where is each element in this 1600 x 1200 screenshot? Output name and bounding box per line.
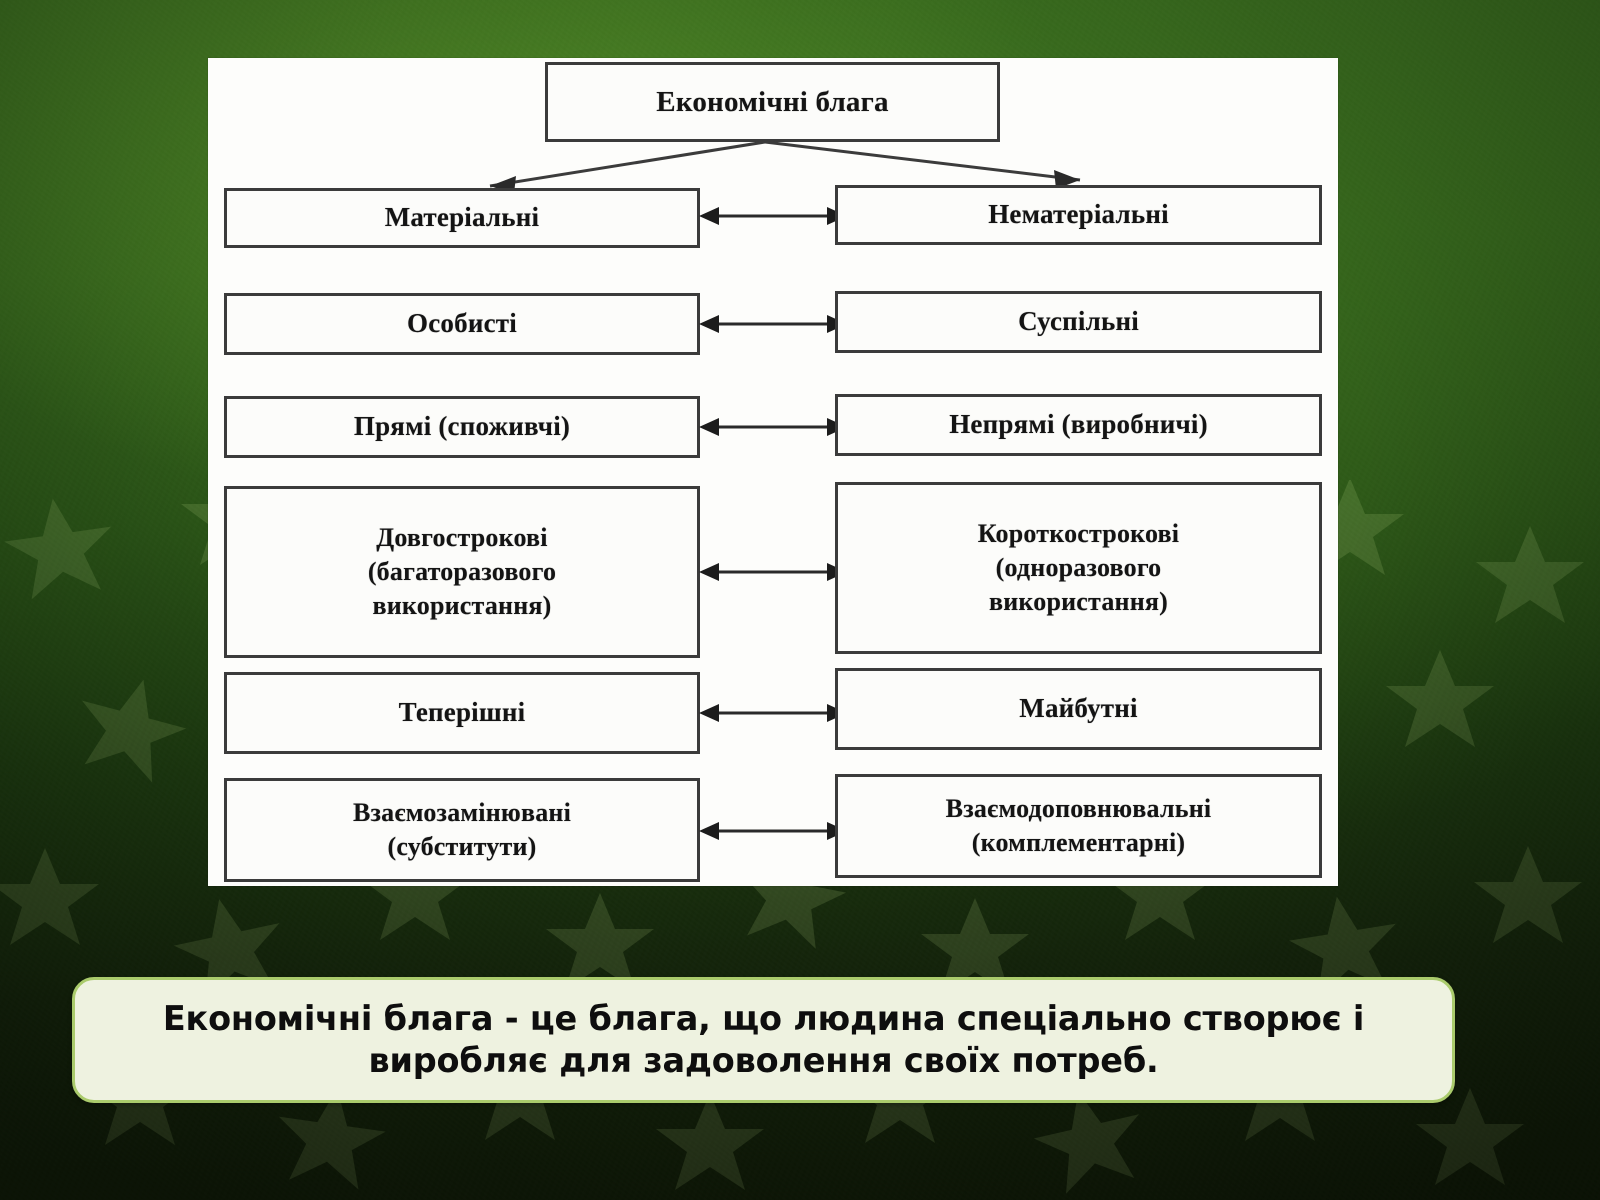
diagram-node-left-3: Прямі (споживчі) — [224, 396, 700, 458]
diagram-node-right-6-line-1: Взаємодоповнювальні — [940, 792, 1218, 826]
diagram-node-right-1: Нематеріальні — [835, 185, 1322, 245]
diagram-node-right-1-label: Нематеріальні — [982, 199, 1175, 231]
caption-banner: Економічні блага - це блага, що людина с… — [72, 977, 1455, 1103]
diagram-connector-1 — [699, 203, 847, 229]
diagram-node-left-6-line-2: (субститути) — [381, 830, 542, 864]
diagram-node-right-6-line-2: (комплементарні) — [966, 826, 1191, 860]
diagram-node-left-6: Взаємозамінювані (субститути) — [224, 778, 700, 882]
diagram-node-right-4-line-2: (одноразового — [990, 551, 1168, 585]
diagram-node-right-4-line-1: Короткострокові — [972, 517, 1185, 551]
diagram-connector-2 — [699, 311, 847, 337]
diagram-node-left-4-line-2: (багаторазового — [362, 555, 562, 589]
slide-canvas: Економічні блага Матеріальні — [0, 0, 1600, 1200]
diagram-content: Економічні блага Матеріальні — [208, 58, 1338, 886]
diagram-node-right-4-line-3: використання) — [983, 585, 1174, 619]
scanned-diagram-panel: Економічні блага Матеріальні — [208, 58, 1338, 886]
diagram-node-left-4-line-1: Довгострокові — [370, 521, 553, 555]
diagram-node-right-5-label: Майбутні — [1013, 693, 1143, 725]
diagram-connector-3 — [699, 414, 847, 440]
diagram-node-right-3-label: Непрямі (виробничі) — [943, 409, 1214, 441]
diagram-node-right-6: Взаємодоповнювальні (комплементарні) — [835, 774, 1322, 878]
diagram-connector-4 — [699, 559, 847, 585]
diagram-connector-6 — [699, 818, 847, 844]
diagram-node-left-5: Теперішні — [224, 672, 700, 754]
diagram-node-left-1: Матеріальні — [224, 188, 700, 248]
diagram-node-right-4: Короткострокові (одноразового використан… — [835, 482, 1322, 654]
diagram-node-right-2: Суспільні — [835, 291, 1322, 353]
diagram-node-left-2-label: Особисті — [401, 308, 523, 340]
diagram-node-left-2: Особисті — [224, 293, 700, 355]
diagram-node-right-5: Майбутні — [835, 668, 1322, 750]
diagram-node-left-5-label: Теперішні — [393, 697, 532, 729]
diagram-node-left-4: Довгострокові (багаторазового використан… — [224, 486, 700, 658]
diagram-node-left-1-label: Матеріальні — [379, 202, 545, 234]
diagram-node-right-3: Непрямі (виробничі) — [835, 394, 1322, 456]
diagram-node-right-2-label: Суспільні — [1012, 306, 1145, 338]
diagram-node-left-4-line-3: використання) — [366, 589, 557, 623]
diagram-connector-5 — [699, 700, 847, 726]
caption-text: Економічні блага - це блага, що людина с… — [109, 998, 1418, 1082]
diagram-node-left-6-line-1: Взаємозамінювані — [347, 796, 577, 830]
diagram-node-left-3-label: Прямі (споживчі) — [348, 411, 576, 443]
